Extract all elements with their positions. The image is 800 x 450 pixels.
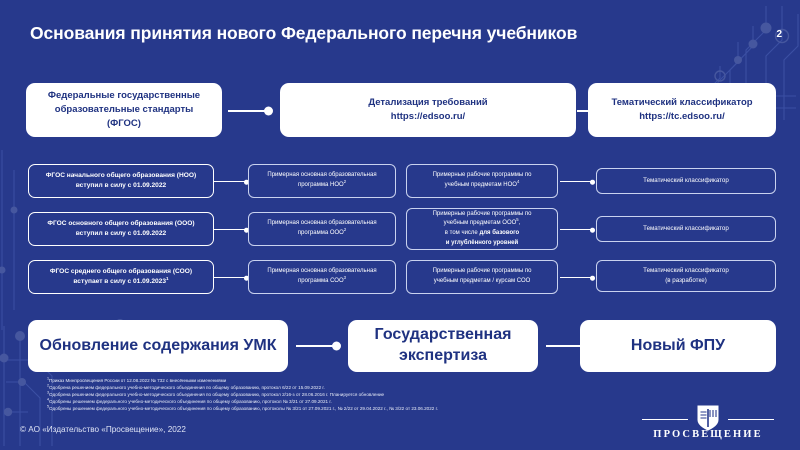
fgos-soo-sup: 1: [166, 276, 169, 281]
classifier-soo-line-1: Тематический классификатор: [643, 266, 729, 276]
program-ooo-line-1: Примерная основная образовательная: [267, 219, 376, 229]
program-soo-sup: 3: [344, 275, 346, 280]
footnote-item: 1Приказ Минпросвещения России от 12.08.2…: [47, 378, 607, 385]
publisher-logo: ПРОСВЕЩЕНИЕ: [638, 402, 778, 442]
slide-root: Основания принятия нового Федерального п…: [0, 0, 800, 450]
box-fgos-standards[interactable]: Федеральные государственные образователь…: [26, 83, 222, 137]
classifier-ooo-line-1: Тематический классификатор: [643, 224, 729, 234]
thematic-classifier-line-1: Тематический классификатор: [611, 96, 752, 110]
workprog-ooo-line-4-bold: и углублённого уровней: [446, 240, 518, 246]
logo-rule-right: [728, 419, 774, 420]
footnote-item: 2Одобрена решением федерального учебно-м…: [47, 385, 607, 392]
thematic-classifier-line-2: https://tc.edsoo.ru/: [611, 110, 752, 124]
box-classifier-ooo[interactable]: Тематический классификатор: [596, 216, 776, 242]
connector-r2-b: [560, 229, 598, 231]
box-fgos-ooo[interactable]: ФГОС основного общего образования (ООО) …: [28, 212, 214, 246]
state-expertise-line-2: экспертиза: [375, 346, 512, 367]
fgos-line-3: (ФГОС): [48, 117, 200, 131]
program-ooo-sup: 2: [344, 227, 346, 232]
program-noo-sup: 2: [344, 179, 346, 184]
umk-update-line-1: Обновление содержания УМК: [40, 336, 277, 357]
fgos-soo-sub: вступает в силу с 01.09.2023: [73, 278, 166, 285]
box-workprog-soo[interactable]: Примерные рабочие программы по учебным п…: [406, 260, 558, 294]
program-ooo-line-2: программа ООО: [298, 230, 344, 236]
footnote-text: Одобрена решением федерального учебно-ме…: [49, 392, 384, 397]
box-workprog-noo[interactable]: Примерные рабочие программы по учебным п…: [406, 164, 558, 198]
workprog-soo-line-2: учебным предметам / курсам СОО: [433, 277, 532, 287]
workprog-noo-sup: 4: [517, 179, 519, 184]
workprog-soo-line-1: Примерные рабочие программы по: [433, 267, 532, 277]
box-fgos-noo[interactable]: ФГОС начального общего образования (НОО)…: [28, 164, 214, 198]
program-soo-line-2: программа СОО: [298, 278, 344, 284]
footnote-item: 5Одобрены решением федерального учебно-м…: [47, 406, 607, 413]
classifier-soo-line-2: (в разработке): [643, 276, 729, 286]
box-program-ooo[interactable]: Примерная основная образовательная прогр…: [248, 212, 396, 246]
box-new-fpu[interactable]: Новый ФПУ: [580, 320, 776, 372]
footnote-text: Одобрены решением федерального учебно-ме…: [49, 406, 438, 411]
workprog-ooo-line-3-prefix: в том числе: [445, 230, 480, 236]
footnote-item: 4Одобрены решением федерального учебно-м…: [47, 399, 607, 406]
program-noo-line-2: программа НОО: [298, 182, 344, 188]
footnote-text: Одобрена решением федерального учебно-ме…: [49, 385, 325, 390]
program-soo-line-1: Примерная основная образовательная: [267, 267, 376, 277]
footnote-item: 3Одобрена решением федерального учебно-м…: [47, 392, 607, 399]
footnote-text: Одобрены решением федерального учебно-ме…: [49, 399, 332, 404]
box-umk-update[interactable]: Обновление содержания УМК: [28, 320, 288, 372]
box-thematic-classifier-top[interactable]: Тематический классификатор https://tc.ed…: [588, 83, 776, 137]
slide-header: Основания принятия нового Федерального п…: [0, 0, 800, 62]
connector-r3-b: [560, 277, 598, 279]
workprog-ooo-sup: 5: [516, 217, 518, 222]
footnote-text: Приказ Минпросвещения России от 12.08.20…: [49, 378, 226, 383]
box-state-expertise[interactable]: Государственная экспертиза: [348, 320, 538, 372]
fgos-line-1: Федеральные государственные: [48, 89, 200, 103]
page-number: 2: [776, 29, 782, 40]
logo-wordmark: ПРОСВЕЩЕНИЕ: [638, 429, 778, 440]
new-fpu-line-1: Новый ФПУ: [631, 336, 725, 357]
workprog-noo-line-2: учебным предметам НОО: [445, 182, 517, 188]
box-detalization[interactable]: Детализация требований https://edsoo.ru/: [280, 83, 576, 137]
classifier-noo-line-1: Тематический классификатор: [643, 176, 729, 186]
connector-r3-a: [214, 277, 252, 279]
shield-book-icon: [696, 404, 720, 432]
workprog-ooo-line-3-bold: для базового: [479, 230, 519, 236]
box-program-noo[interactable]: Примерная основная образовательная прогр…: [248, 164, 396, 198]
copyright-text: © АО «Издательство «Просвещение», 2022: [20, 425, 186, 434]
fgos-noo-title: ФГОС начального общего образования (НОО): [46, 171, 196, 181]
detalization-line-2: https://edsoo.ru/: [368, 110, 487, 124]
box-program-soo[interactable]: Примерная основная образовательная прогр…: [248, 260, 396, 294]
state-expertise-line-1: Государственная: [375, 325, 512, 346]
fgos-noo-sub: вступил в силу с 01.09.2022: [46, 181, 196, 191]
box-workprog-ooo[interactable]: Примерные рабочие программы по учебным п…: [406, 208, 558, 250]
detalization-line-1: Детализация требований: [368, 96, 487, 110]
page-title: Основания принятия нового Федерального п…: [30, 23, 577, 44]
workprog-ooo-line-2: учебным предметам ООО: [444, 220, 517, 226]
connector-bottom-1: [296, 345, 340, 347]
connector-r2-a: [214, 229, 252, 231]
program-noo-line-1: Примерная основная образовательная: [267, 171, 376, 181]
box-classifier-soo[interactable]: Тематический классификатор (в разработке…: [596, 260, 776, 292]
connector-top-1: [228, 110, 272, 112]
box-fgos-soo[interactable]: ФГОС среднего общего образования (СОО) в…: [28, 260, 214, 294]
fgos-soo-title: ФГОС среднего общего образования (СОО): [50, 267, 192, 277]
fgos-line-2: образовательные стандарты: [48, 103, 200, 117]
logo-rule-left: [642, 419, 688, 420]
box-classifier-noo[interactable]: Тематический классификатор: [596, 168, 776, 194]
footnotes-list: 1Приказ Минпросвещения России от 12.08.2…: [47, 378, 607, 413]
fgos-ooo-sub: вступил в силу с 01.09.2022: [47, 229, 194, 239]
connector-r1-b: [560, 181, 598, 183]
fgos-ooo-title: ФГОС основного общего образования (ООО): [47, 219, 194, 229]
connector-r1-a: [214, 181, 252, 183]
